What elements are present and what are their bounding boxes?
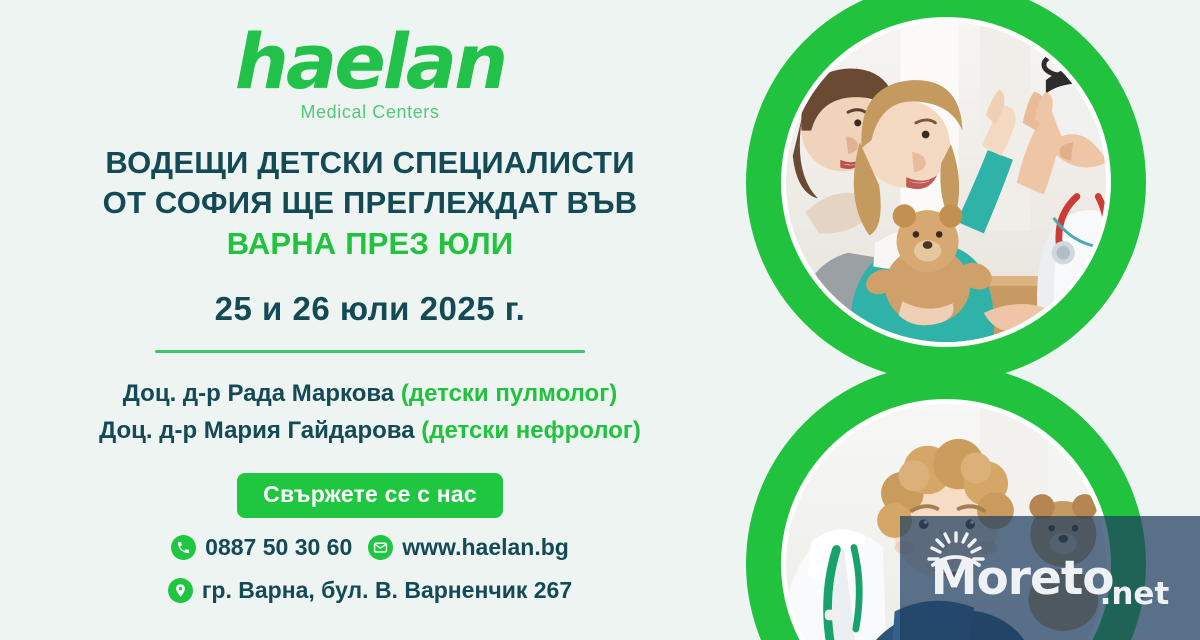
headline-line-2: ОТ СОФИЯ ЩЕ ПРЕГЛЕЖДАТ ВЪВ — [103, 183, 638, 223]
website-contact[interactable]: www.haelan.bg — [368, 534, 569, 561]
list-item: Доц. д-р Мария Гайдарова (детски нефроло… — [99, 412, 641, 449]
sun-icon — [925, 531, 987, 583]
headline-line-3: ВАРНА ПРЕЗ ЮЛИ — [103, 224, 638, 264]
doctor-name: Доц. д-р Рада Маркова — [123, 380, 401, 407]
list-item: Доц. д-р Рада Маркова (детски пулмолог) — [99, 375, 641, 412]
photo-top — [781, 17, 1111, 347]
watermark-moreto: Moreto .net — [900, 516, 1200, 640]
page-title: ВОДЕЩИ ДЕТСКИ СПЕЦИАЛИСТИ ОТ СОФИЯ ЩЕ ПР… — [103, 143, 638, 264]
doctor-specialty: (детски нефролог) — [421, 417, 641, 444]
photo-top-illustration — [786, 22, 1106, 342]
event-date: 25 и 26 юли 2025 г. — [215, 290, 526, 328]
contact-row-primary: 0887 50 30 60 www.haelan.bg — [171, 534, 569, 561]
watermark-tld: .net — [1100, 576, 1170, 612]
website-url: www.haelan.bg — [402, 534, 569, 561]
phone-icon — [171, 535, 196, 560]
headline-line-1: ВОДЕЩИ ДЕТСКИ СПЕЦИАЛИСТИ — [103, 143, 638, 183]
divider — [155, 350, 585, 353]
phone-number: 0887 50 30 60 — [205, 534, 352, 561]
phone-contact[interactable]: 0887 50 30 60 — [171, 534, 352, 561]
map-pin-icon — [168, 578, 193, 603]
address-text: гр. Варна, бул. В. Варненчик 267 — [202, 577, 572, 604]
doctor-specialty: (детски пулмолог) — [401, 380, 617, 407]
envelope-icon — [368, 535, 393, 560]
contact-row-address: гр. Варна, бул. В. Варненчик 267 — [168, 577, 572, 604]
doctors-list: Доц. д-р Рада Маркова (детски пулмолог) … — [99, 375, 641, 449]
advertisement-banner: haelan Medical Centers ВОДЕЩИ ДЕТСКИ СПЕ… — [0, 0, 1200, 640]
doctor-name: Доц. д-р Мария Гайдарова — [99, 417, 421, 444]
content-column: haelan Medical Centers ВОДЕЩИ ДЕТСКИ СПЕ… — [0, 0, 740, 640]
address-contact[interactable]: гр. Варна, бул. В. Варненчик 267 — [168, 577, 572, 604]
contact-us-button[interactable]: Свържете се с нас — [237, 473, 503, 518]
brand-logo[interactable]: haelan Medical Centers — [235, 26, 505, 123]
watermark-logo: Moreto .net — [931, 555, 1170, 602]
logo-wordmark: haelan — [235, 26, 505, 98]
photo-circle-top — [746, 0, 1146, 382]
